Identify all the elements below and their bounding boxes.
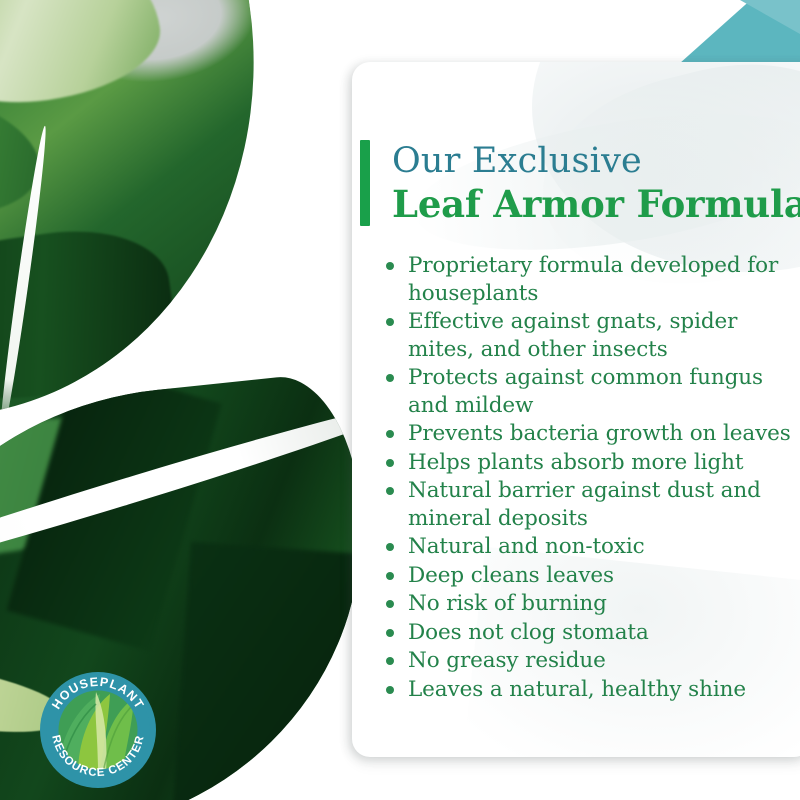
benefit-text: No risk of burning [408, 591, 607, 616]
heading-line-2: Leaf Armor Formula [392, 182, 800, 226]
benefit-text: No greasy residue [408, 648, 606, 673]
heading-text-group: Our Exclusive Leaf Armor Formula [392, 140, 800, 226]
benefit-item: Natural and non-toxic [382, 533, 797, 561]
top-leaf-photo [0, 0, 301, 427]
bullet-dot-icon [386, 629, 394, 637]
heading-line-1: Our Exclusive [392, 140, 800, 182]
bullet-dot-icon [386, 657, 394, 665]
benefit-text: Prevents bacteria growth on leaves [408, 421, 791, 446]
bullet-dot-icon [386, 318, 394, 326]
houseplant-resource-center-logo: HOUSEPLANT RESOURCE CENTER [38, 670, 158, 790]
benefit-text: Does not clog stomata [408, 620, 649, 645]
benefit-item: Protects against common fungus and milde… [382, 364, 797, 419]
benefit-text: Deep cleans leaves [408, 563, 614, 588]
benefit-text: Helps plants absorb more light [408, 450, 743, 475]
heading-accent-bar [360, 140, 370, 226]
benefit-item: Natural barrier against dust and mineral… [382, 477, 797, 532]
benefit-text: Leaves a natural, healthy shine [408, 677, 746, 702]
benefits-list: Proprietary formula developed for housep… [382, 252, 797, 704]
benefit-item: Does not clog stomata [382, 619, 797, 647]
bullet-dot-icon [386, 572, 394, 580]
benefit-text: Natural and non-toxic [408, 534, 645, 559]
bullet-dot-icon [386, 600, 394, 608]
poster-canvas: Our Exclusive Leaf Armor Formula Proprie… [0, 0, 800, 800]
benefit-text: Proprietary formula developed for housep… [408, 253, 778, 306]
benefit-item: Proprietary formula developed for housep… [382, 252, 797, 307]
bullet-dot-icon [386, 430, 394, 438]
benefit-text: Natural barrier against dust and mineral… [408, 478, 761, 531]
benefit-item: Helps plants absorb more light [382, 449, 797, 477]
card-heading: Our Exclusive Leaf Armor Formula [360, 140, 800, 226]
leaf-highlight-shape [0, 0, 167, 114]
bullet-dot-icon [386, 487, 394, 495]
benefit-item: No risk of burning [382, 590, 797, 618]
bullet-dot-icon [386, 686, 394, 694]
benefit-item: Prevents bacteria growth on leaves [382, 420, 797, 448]
bullet-dot-icon [386, 374, 394, 382]
bullet-dot-icon [386, 459, 394, 467]
benefit-item: Effective against gnats, spider mites, a… [382, 308, 797, 363]
benefit-item: No greasy residue [382, 647, 797, 675]
benefit-item: Deep cleans leaves [382, 562, 797, 590]
content-card: Our Exclusive Leaf Armor Formula Proprie… [352, 62, 800, 757]
bullet-dot-icon [386, 262, 394, 270]
bullet-dot-icon [386, 543, 394, 551]
benefit-text: Protects against common fungus and milde… [408, 365, 763, 418]
benefit-item: Leaves a natural, healthy shine [382, 676, 797, 704]
benefit-text: Effective against gnats, spider mites, a… [408, 309, 737, 362]
